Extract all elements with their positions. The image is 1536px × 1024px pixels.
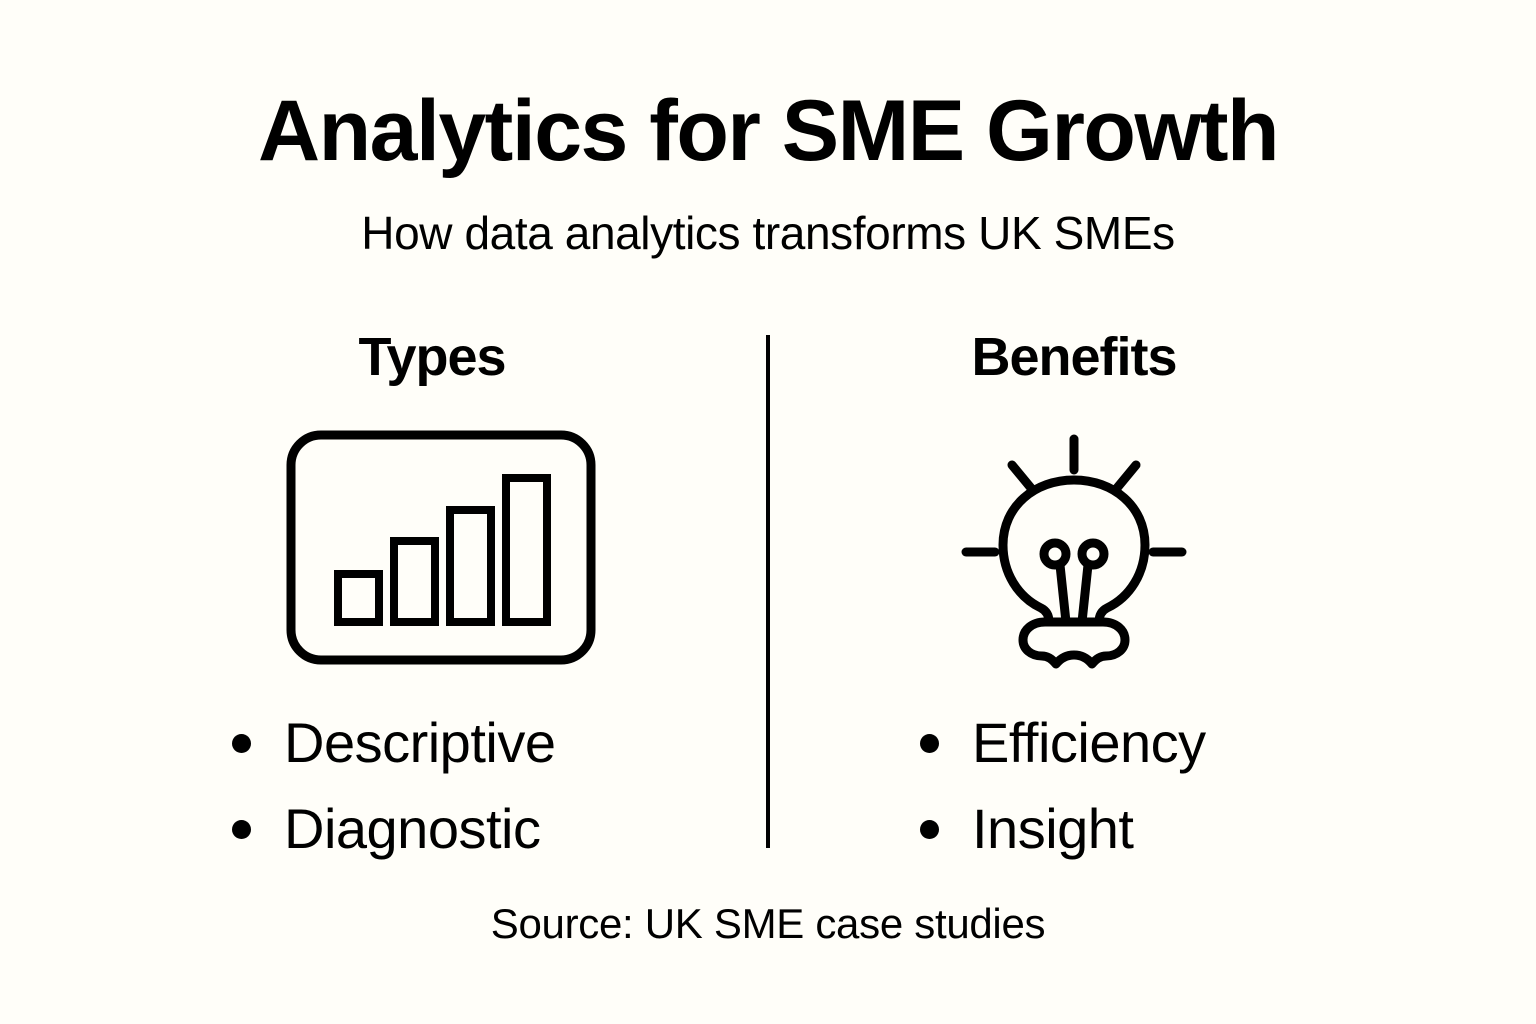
lightbulb-icon-wrap bbox=[724, 422, 1424, 672]
bullet-list-benefits: Efficiency Insight bbox=[724, 700, 1424, 872]
list-item-label: Descriptive bbox=[284, 715, 555, 771]
bullet-dot-icon bbox=[232, 820, 251, 839]
bullet-dot-icon bbox=[920, 734, 939, 753]
source-caption: Source: UK SME case studies bbox=[0, 900, 1536, 948]
column-heading-benefits: Benefits bbox=[724, 330, 1424, 390]
bar-chart-icon bbox=[286, 430, 596, 665]
list-item-label: Efficiency bbox=[972, 715, 1206, 771]
column-benefits: Benefits bbox=[724, 330, 1424, 888]
lightbulb-icon bbox=[950, 425, 1198, 670]
list-item-label: Insight bbox=[972, 801, 1134, 857]
page-subtitle: How data analytics transforms UK SMEs bbox=[0, 208, 1536, 259]
bullet-dot-icon bbox=[920, 820, 939, 839]
list-item: Diagnostic bbox=[232, 786, 782, 872]
bullet-list-types: Descriptive Diagnostic bbox=[82, 700, 782, 872]
list-item: Insight bbox=[920, 786, 1424, 872]
column-heading-types: Types bbox=[82, 330, 782, 390]
page-title: Analytics for SME Growth bbox=[0, 88, 1536, 174]
column-types: Types Descriptive Diagnostic bbox=[82, 330, 782, 888]
infographic-canvas: Analytics for SME Growth How data analyt… bbox=[0, 0, 1536, 1024]
bar-chart-icon-wrap bbox=[82, 422, 782, 672]
bullet-dot-icon bbox=[232, 734, 251, 753]
list-item-label: Diagnostic bbox=[284, 801, 540, 857]
list-item: Descriptive bbox=[232, 700, 782, 786]
list-item: Efficiency bbox=[920, 700, 1424, 786]
